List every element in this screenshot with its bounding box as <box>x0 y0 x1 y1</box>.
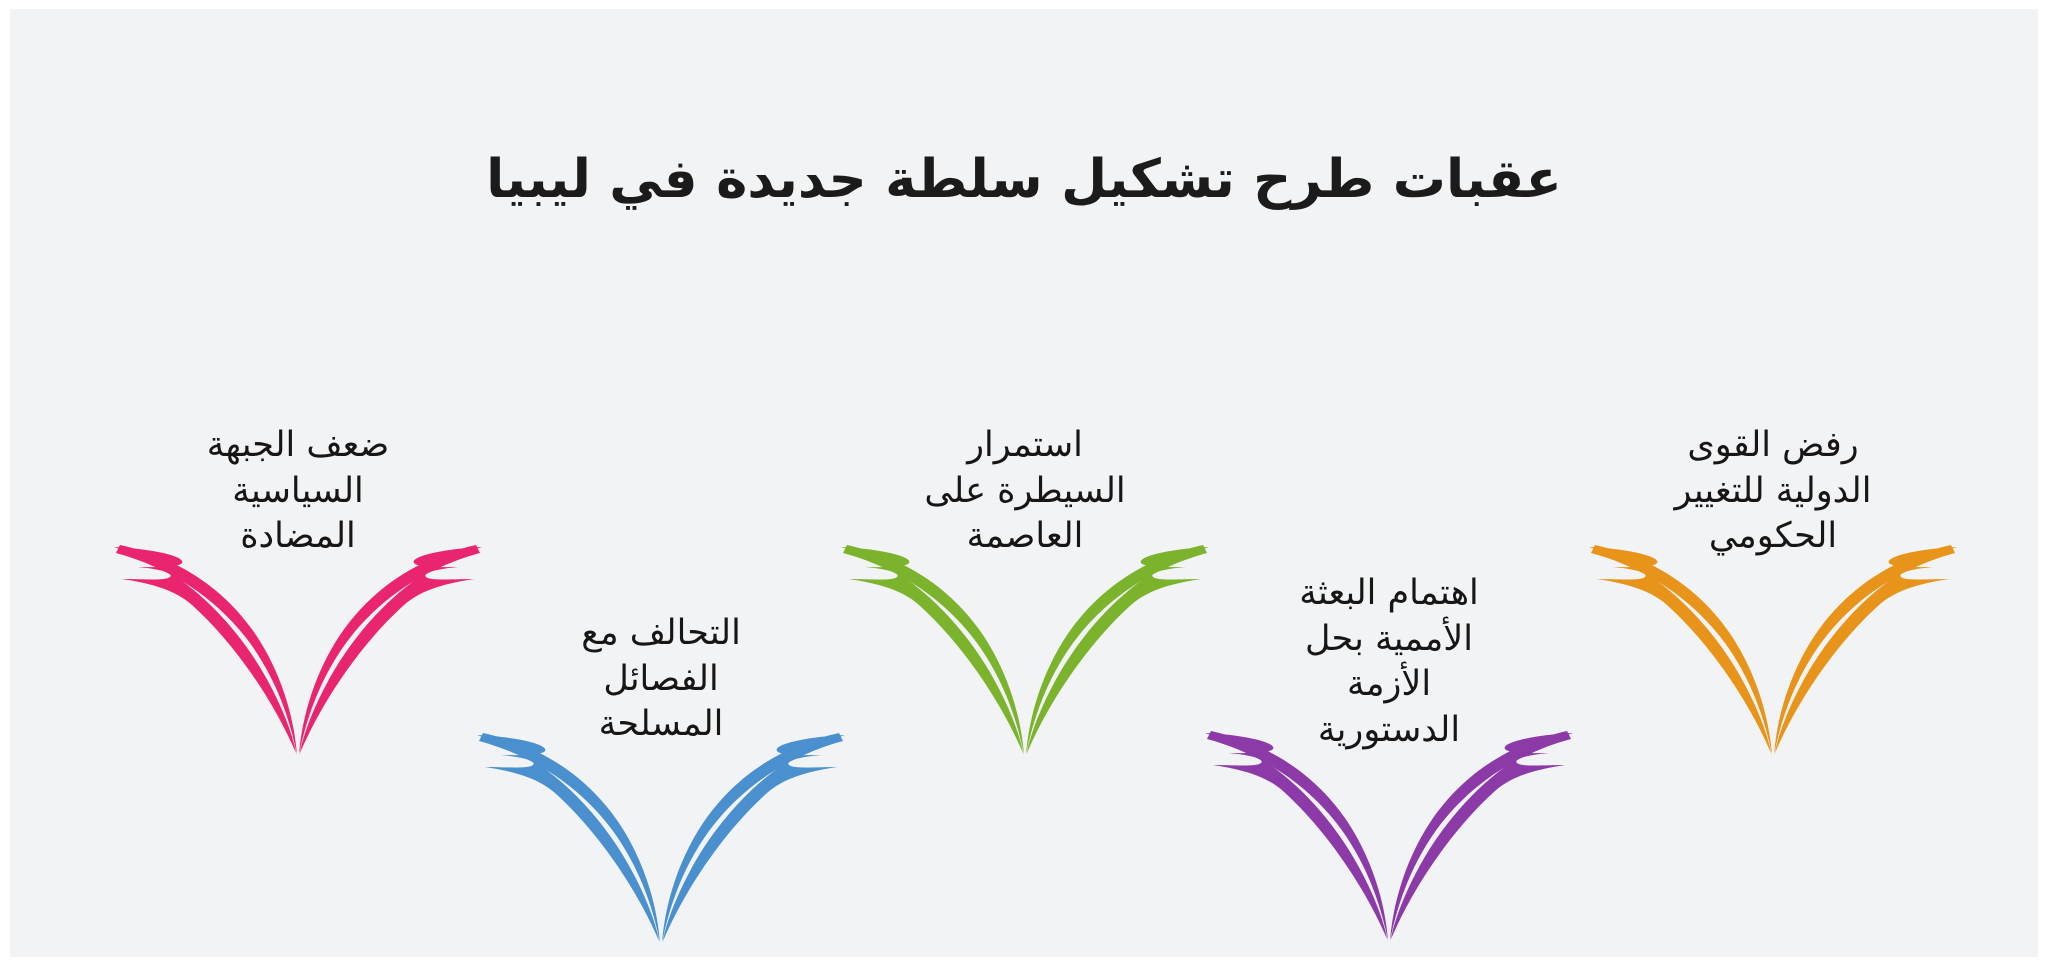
chevron-left-blade <box>841 545 1024 755</box>
chevron-label-1: ضعف الجبهة السياسية المضادة <box>164 423 432 560</box>
chevron-right-blade <box>1774 545 1957 755</box>
chevron-left-blade <box>1589 545 1772 755</box>
chevron-right-blade <box>299 545 482 755</box>
chevron-label-5: رفض القوى الدولية للتغيير الحكومي <box>1639 423 1907 560</box>
chevron-marker-icon <box>471 731 851 946</box>
chevron-left-blade <box>114 545 297 755</box>
chevron-right-blade <box>1026 545 1209 755</box>
chevron-label-2: التحالف مع الفصائل المسلحة <box>527 611 795 748</box>
page-title: عقبات طرح تشكيل سلطة جديدة في ليبيا <box>3 147 2045 213</box>
infographic-canvas: عقبات طرح تشكيل سلطة جديدة في ليبيا ضعف … <box>0 0 2048 968</box>
chevron-right-blade <box>1390 731 1573 941</box>
chevron-marker-icon <box>835 543 1215 758</box>
chevron-label-3: استمرار السيطرة على العاصمة <box>891 423 1159 560</box>
chevron-marker-icon <box>1583 543 1963 758</box>
chevron-left-blade <box>477 733 660 943</box>
chevron-left-blade <box>1205 731 1388 941</box>
frame-edge-top <box>3 3 2048 9</box>
chevron-label-4: اهتمام البعثة الأممية بحل الأزمة الدستور… <box>1255 571 1523 753</box>
chevron-marker-icon <box>1199 729 1579 944</box>
chevron-right-blade <box>662 733 845 943</box>
chevron-marker-icon <box>108 543 488 758</box>
frame-edge-bottom <box>3 957 2048 965</box>
